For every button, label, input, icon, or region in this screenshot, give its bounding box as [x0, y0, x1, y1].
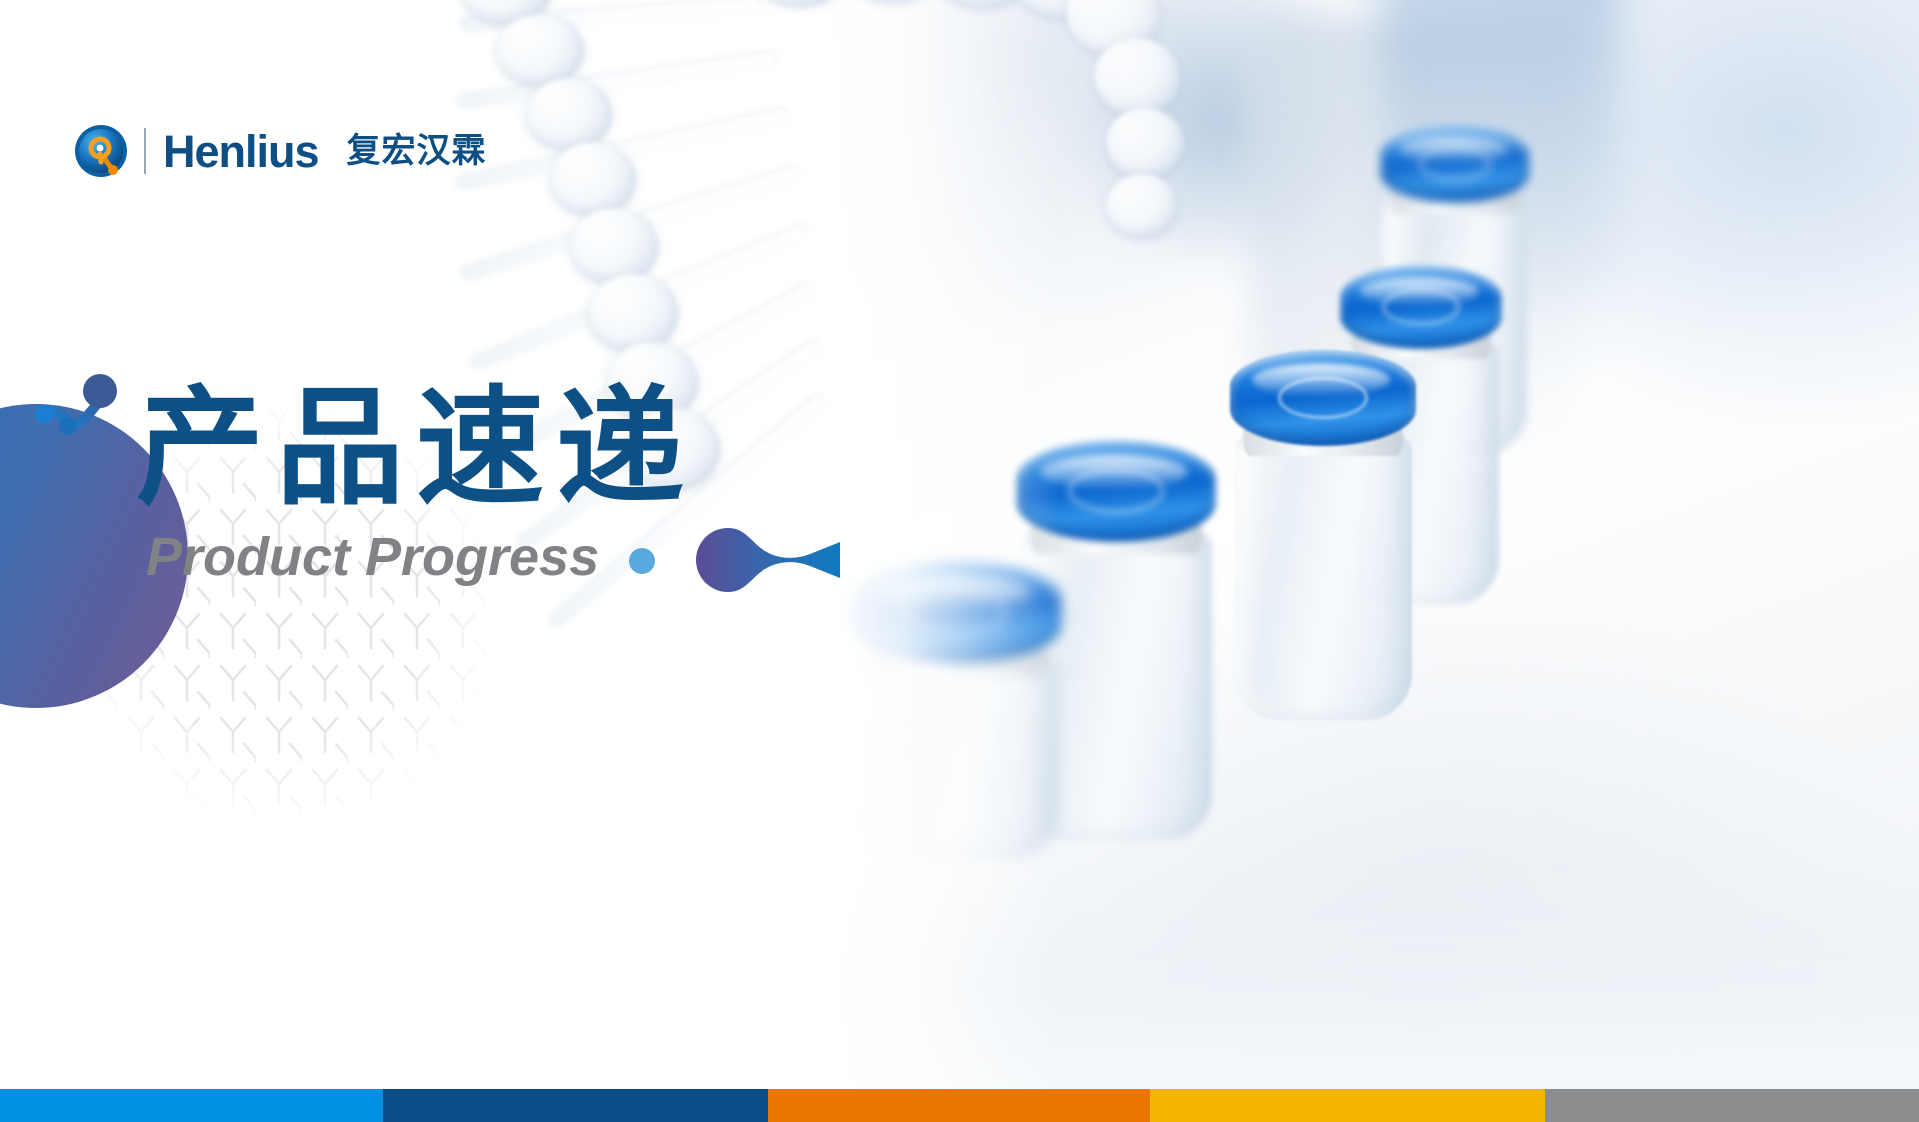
- slide-title-chinese: 产品速递: [136, 385, 696, 513]
- color-bar-segment-orange: [768, 1089, 1150, 1122]
- logo-chinese-name: 复宏汉霖: [347, 134, 487, 168]
- henlius-logo-mark-icon: [74, 124, 128, 178]
- vial-mid-3: [1230, 350, 1416, 720]
- slide-subtitle-english: Product Progress: [146, 530, 599, 584]
- vial-near-1: [850, 560, 1062, 860]
- color-bar-segment-gray: [1545, 1089, 1919, 1122]
- color-bar-segment-dark-blue: [383, 1089, 768, 1122]
- cover-slide: Henlius 复宏汉霖 产品速递 Product Progress: [0, 0, 1919, 1122]
- henlius-logo[interactable]: Henlius 复宏汉霖: [74, 124, 487, 178]
- logo-divider: [144, 128, 146, 174]
- color-bar-segment-yellow: [1150, 1089, 1545, 1122]
- color-bar-segment-light-blue: [0, 1089, 383, 1122]
- bottom-color-bar: [0, 1089, 1919, 1122]
- logo-english-name: Henlius: [163, 129, 319, 174]
- molecule-decoration-icon: [22, 368, 142, 468]
- bench-reflection: [820, 860, 1919, 1090]
- vial-near-2: [1016, 440, 1216, 840]
- laboratory-vials-photo: [820, 0, 1919, 1090]
- accent-dot-decoration: [629, 548, 655, 574]
- metaball-decoration: [694, 522, 840, 600]
